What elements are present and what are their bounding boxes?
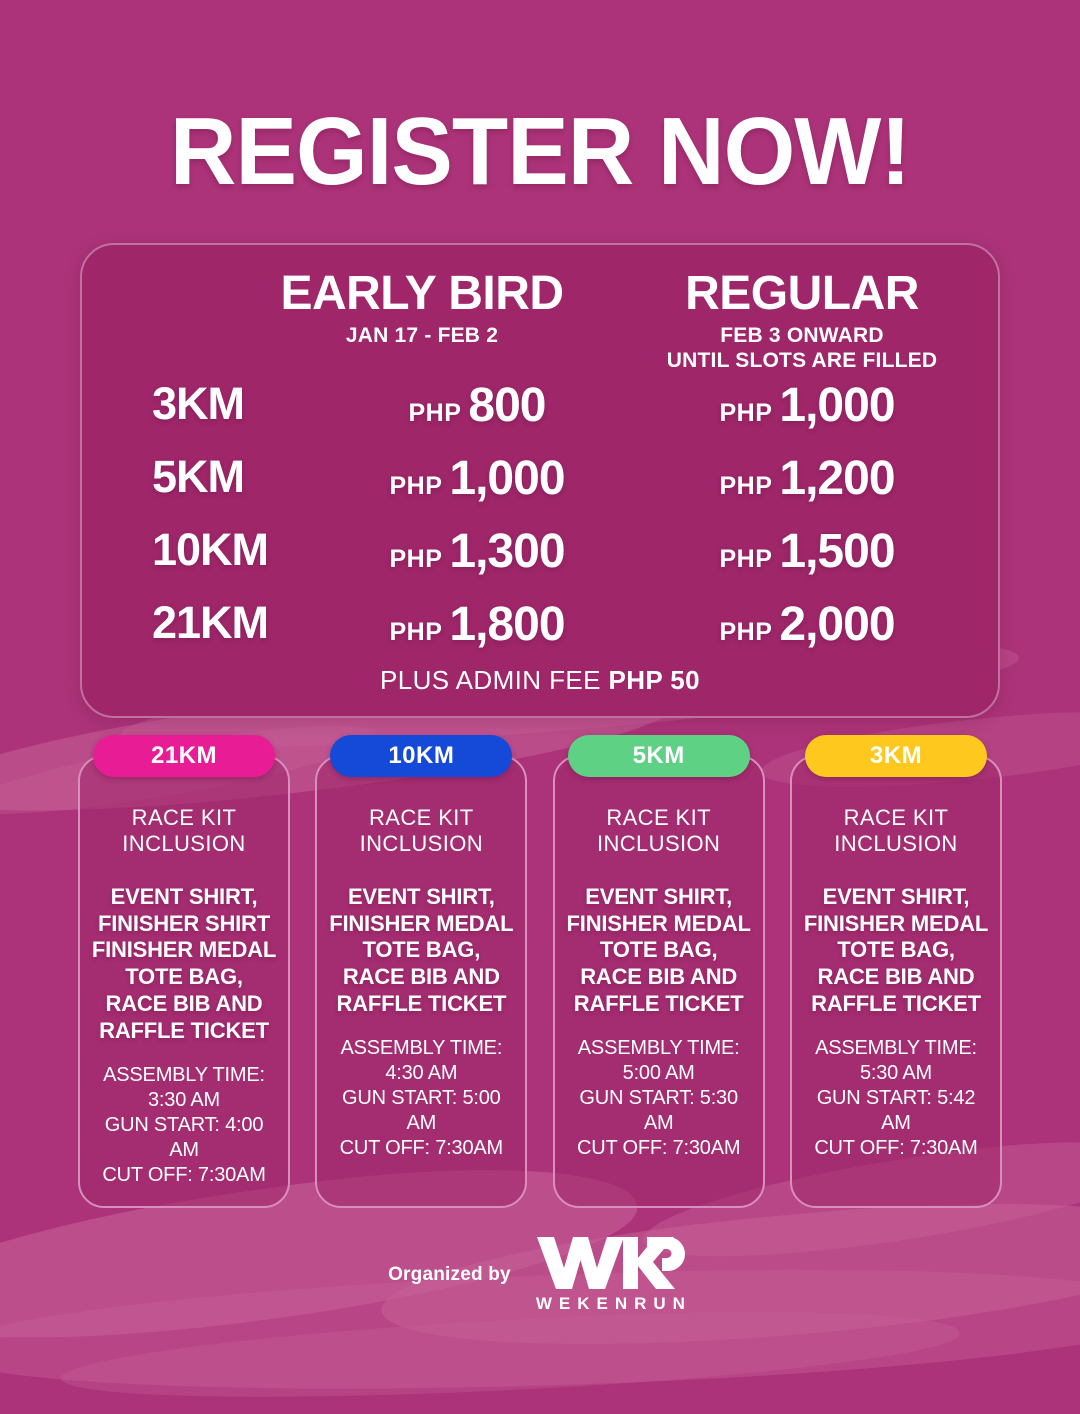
- row-early-bird-price: PHP 800: [332, 378, 622, 433]
- race-kit-items: EVENT SHIRT,FINISHER SHIRTFINISHER MEDAL…: [90, 884, 278, 1045]
- row-early-bird-price: PHP 1,300: [332, 524, 622, 579]
- column-header-regular: REGULAR FEB 3 ONWARDUNTIL SLOTS ARE FILL…: [602, 269, 1002, 373]
- currency-label: PHP: [389, 545, 442, 574]
- row-regular-price: PHP 1,000: [662, 378, 952, 433]
- price-value: 1,000: [449, 451, 564, 506]
- race-kit-inclusion-label: RACE KITINCLUSION: [802, 805, 990, 858]
- row-distance: 3KM: [152, 378, 332, 430]
- page-title: REGISTER NOW!: [22, 0, 1059, 200]
- race-kit-card-21km: 21KM RACE KITINCLUSION EVENT SHIRT,FINIS…: [78, 755, 290, 1208]
- regular-title: REGULAR: [602, 269, 1002, 320]
- row-distance: 5KM: [152, 451, 332, 503]
- row-early-bird-price: PHP 1,800: [332, 597, 622, 652]
- currency-label: PHP: [389, 618, 442, 647]
- distance-badge-5km: 5KM: [568, 735, 750, 777]
- race-kit-inclusion-label: RACE KITINCLUSION: [327, 805, 515, 858]
- row-regular-price: PHP 1,200: [662, 451, 952, 506]
- row-distance: 10KM: [152, 524, 332, 576]
- race-kit-inclusion-label: RACE KITINCLUSION: [565, 805, 753, 858]
- price-value: 1,000: [779, 378, 894, 433]
- currency-label: PHP: [719, 472, 772, 501]
- currency-label: PHP: [389, 472, 442, 501]
- wekenrun-logo: WEKENRUN: [529, 1235, 692, 1314]
- race-schedule-times: ASSEMBLY TIME:3:30 AMGUN START: 4:00 AMC…: [90, 1063, 278, 1188]
- admin-fee-label: PLUS ADMIN FEE: [380, 665, 601, 695]
- price-value: 1,300: [449, 524, 564, 579]
- price-value: 1,800: [449, 597, 564, 652]
- column-header-early-bird: EARLY BIRD JAN 17 - FEB 2: [257, 269, 587, 349]
- poster-root: REGISTER NOW! EARLY BIRD JAN 17 - FEB 2 …: [0, 0, 1080, 1350]
- price-value: 1,200: [779, 451, 894, 506]
- race-schedule-times: ASSEMBLY TIME:4:30 AMGUN START: 5:00 AMC…: [327, 1036, 515, 1161]
- price-row: 3KM PHP 800 PHP 1,000: [82, 378, 998, 451]
- race-schedule-times: ASSEMBLY TIME:5:00 AMGUN START: 5:30 AMC…: [565, 1036, 753, 1161]
- row-regular-price: PHP 2,000: [662, 597, 952, 652]
- row-early-bird-price: PHP 1,000: [332, 451, 622, 506]
- admin-fee-note: PLUS ADMIN FEE PHP 50: [82, 665, 998, 696]
- early-bird-dates: JAN 17 - FEB 2: [257, 324, 587, 349]
- price-value: 800: [468, 378, 545, 433]
- organized-by-label: Organized by: [388, 1264, 511, 1286]
- pricing-panel: EARLY BIRD JAN 17 - FEB 2 REGULAR FEB 3 …: [80, 243, 1000, 718]
- early-bird-title: EARLY BIRD: [257, 269, 587, 320]
- race-schedule-times: ASSEMBLY TIME:5:30 AMGUN START: 5:42 AMC…: [802, 1036, 990, 1161]
- wkr-monogram-icon: [535, 1235, 685, 1291]
- pricing-column-headers: EARLY BIRD JAN 17 - FEB 2 REGULAR FEB 3 …: [82, 269, 998, 379]
- race-kit-items: EVENT SHIRT,FINISHER MEDALTOTE BAG,RACE …: [802, 884, 990, 1018]
- currency-label: PHP: [719, 618, 772, 647]
- distance-badge-21km: 21KM: [93, 735, 275, 777]
- currency-label: PHP: [409, 399, 462, 428]
- wekenrun-wordmark: WEKENRUN: [529, 1294, 692, 1314]
- price-row: 10KM PHP 1,300 PHP 1,500: [82, 524, 998, 597]
- footer: Organized by WEKENRUN: [0, 1235, 1080, 1314]
- row-regular-price: PHP 1,500: [662, 524, 952, 579]
- race-kit-card-3km: 3KM RACE KITINCLUSION EVENT SHIRT,FINISH…: [790, 755, 1002, 1208]
- race-kit-items: EVENT SHIRT,FINISHER MEDALTOTE BAG,RACE …: [565, 884, 753, 1018]
- row-distance: 21KM: [152, 597, 332, 649]
- regular-dates: FEB 3 ONWARDUNTIL SLOTS ARE FILLED: [602, 324, 1002, 374]
- race-kit-inclusion-label: RACE KITINCLUSION: [90, 805, 278, 858]
- price-row: 21KM PHP 1,800 PHP 2,000: [82, 597, 998, 670]
- race-kit-card-5km: 5KM RACE KITINCLUSION EVENT SHIRT,FINISH…: [553, 755, 765, 1208]
- price-row: 5KM PHP 1,000 PHP 1,200: [82, 451, 998, 524]
- admin-fee-value: PHP 50: [608, 665, 700, 695]
- race-kit-items: EVENT SHIRT,FINISHER MEDALTOTE BAG,RACE …: [327, 884, 515, 1018]
- price-value: 2,000: [779, 597, 894, 652]
- distance-badge-3km: 3KM: [805, 735, 987, 777]
- pricing-rows: 3KM PHP 800 PHP 1,000 5KM PHP 1,000 PHP: [82, 378, 998, 670]
- race-kit-cards: 21KM RACE KITINCLUSION EVENT SHIRT,FINIS…: [78, 755, 1002, 1208]
- race-kit-card-10km: 10KM RACE KITINCLUSION EVENT SHIRT,FINIS…: [315, 755, 527, 1208]
- distance-badge-10km: 10KM: [330, 735, 512, 777]
- currency-label: PHP: [719, 399, 772, 428]
- price-value: 1,500: [779, 524, 894, 579]
- currency-label: PHP: [719, 545, 772, 574]
